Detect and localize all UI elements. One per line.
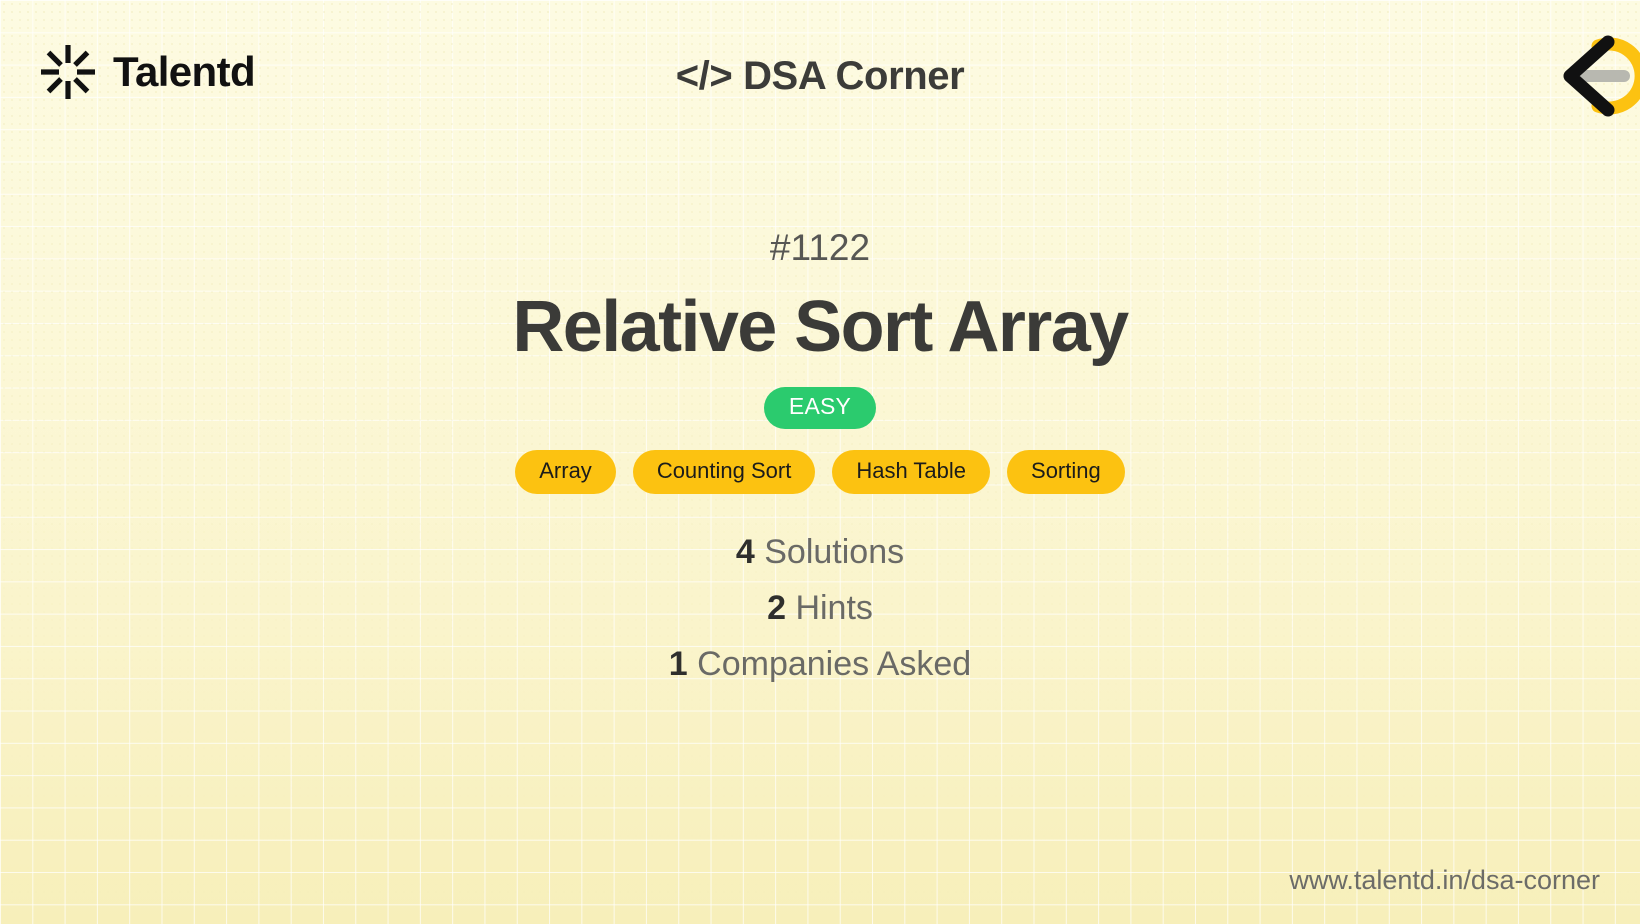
stat-row-hints: 2 Hints: [767, 589, 873, 628]
problem-stats: 4 Solutions 2 Hints 1 Companies Asked: [669, 533, 971, 684]
stat-value: 2: [767, 589, 786, 627]
stat-label: Solutions: [764, 533, 904, 571]
tag-list: Array Counting Sort Hash Table Sorting: [515, 450, 1124, 494]
tag-pill[interactable]: Sorting: [1007, 450, 1125, 494]
problem-content: #1122 Relative Sort Array EASY Array Cou…: [0, 228, 1640, 684]
tag-pill[interactable]: Array: [515, 450, 616, 494]
page-title-text: DSA Corner: [743, 54, 964, 98]
stat-label: Hints: [795, 589, 872, 627]
dsa-corner-problem-card: Talentd </> DSA Corner #1122 Relative So…: [0, 0, 1640, 924]
stat-row-solutions: 4 Solutions: [736, 533, 904, 572]
talentd-chevron-logo: [1546, 26, 1640, 126]
tag-pill[interactable]: Hash Table: [832, 450, 990, 494]
footer-url[interactable]: www.talentd.in/dsa-corner: [1289, 866, 1600, 896]
stat-value: 1: [669, 645, 688, 683]
stat-value: 4: [736, 533, 755, 571]
problem-number: #1122: [770, 228, 870, 269]
code-mark-icon: </>: [676, 54, 733, 98]
difficulty-badge: EASY: [764, 387, 876, 428]
tag-pill[interactable]: Counting Sort: [633, 450, 816, 494]
stat-label: Companies Asked: [697, 645, 971, 683]
page-title: </> DSA Corner: [0, 54, 1640, 98]
problem-title: Relative Sort Array: [512, 290, 1127, 366]
stat-row-companies: 1 Companies Asked: [669, 645, 971, 684]
